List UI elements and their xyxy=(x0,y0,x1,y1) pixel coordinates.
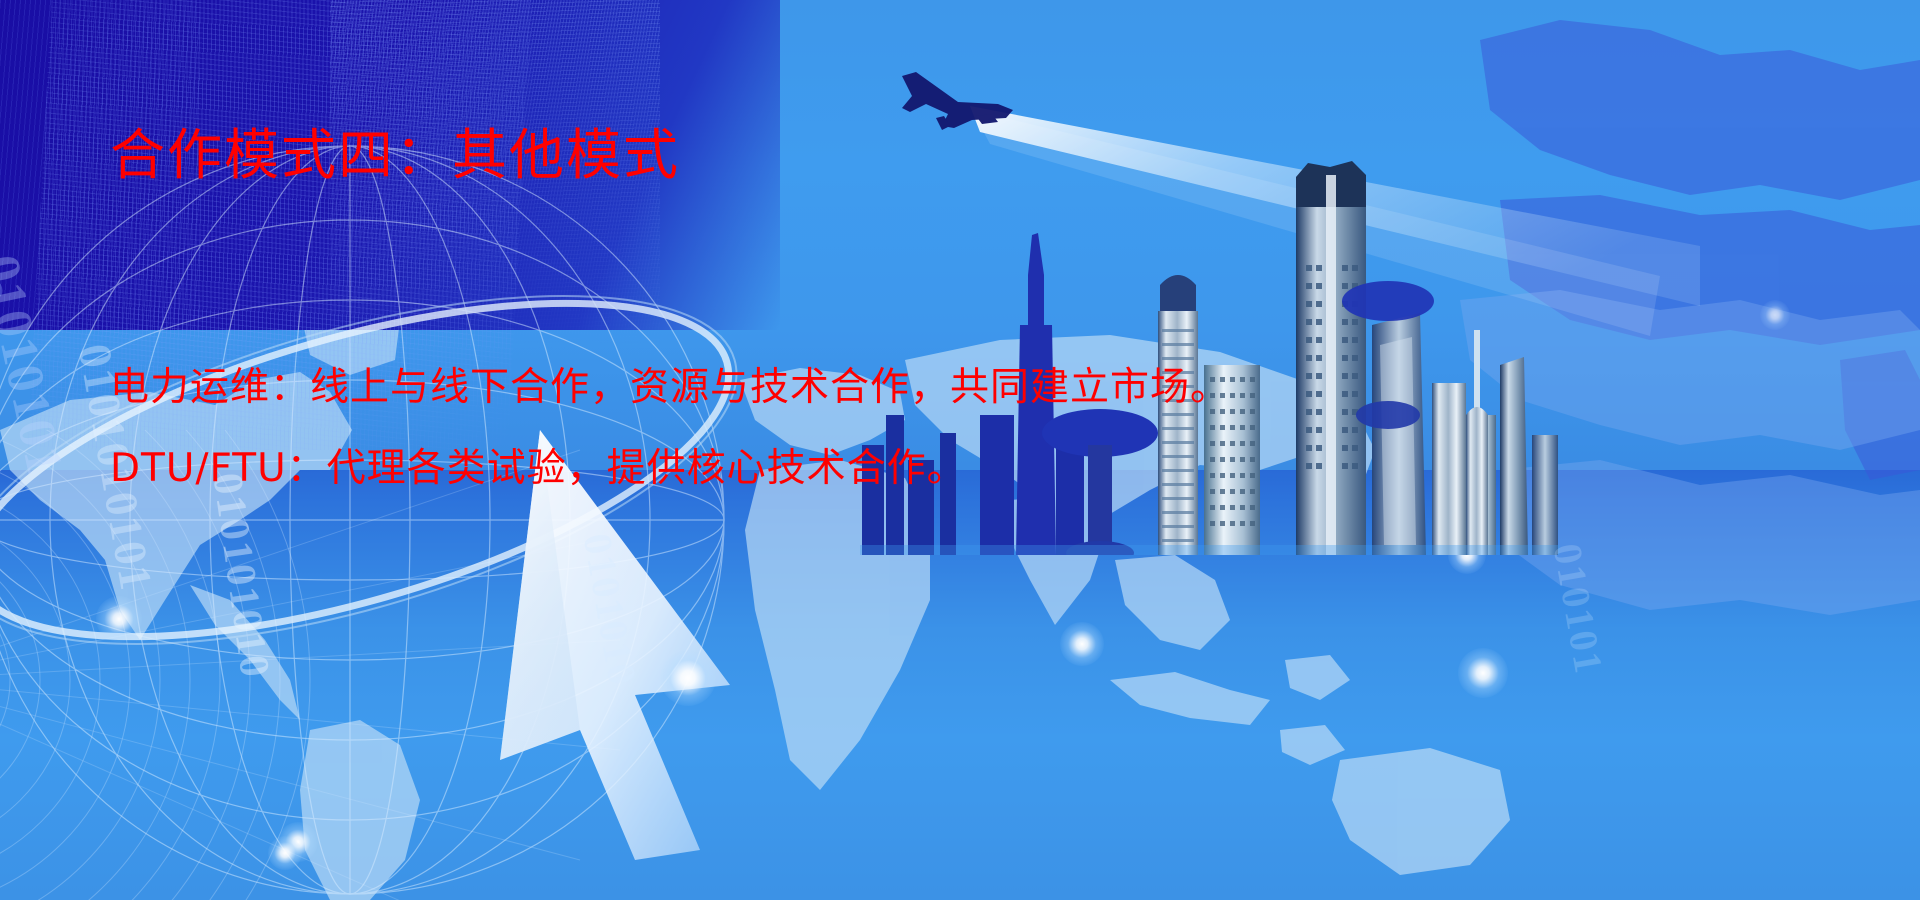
body-line-1: 电力运维：线上与线下合作，资源与技术合作，共同建立市场。 xyxy=(110,356,1230,412)
body-line-2: DTU/FTU：代理各类试验，提供核心技术合作。 xyxy=(110,437,967,493)
presentation-slide: 0101010 01010101 0101010101 010101010 01… xyxy=(0,0,1920,900)
slide-title: 合作模式四：其他模式 xyxy=(110,110,680,190)
